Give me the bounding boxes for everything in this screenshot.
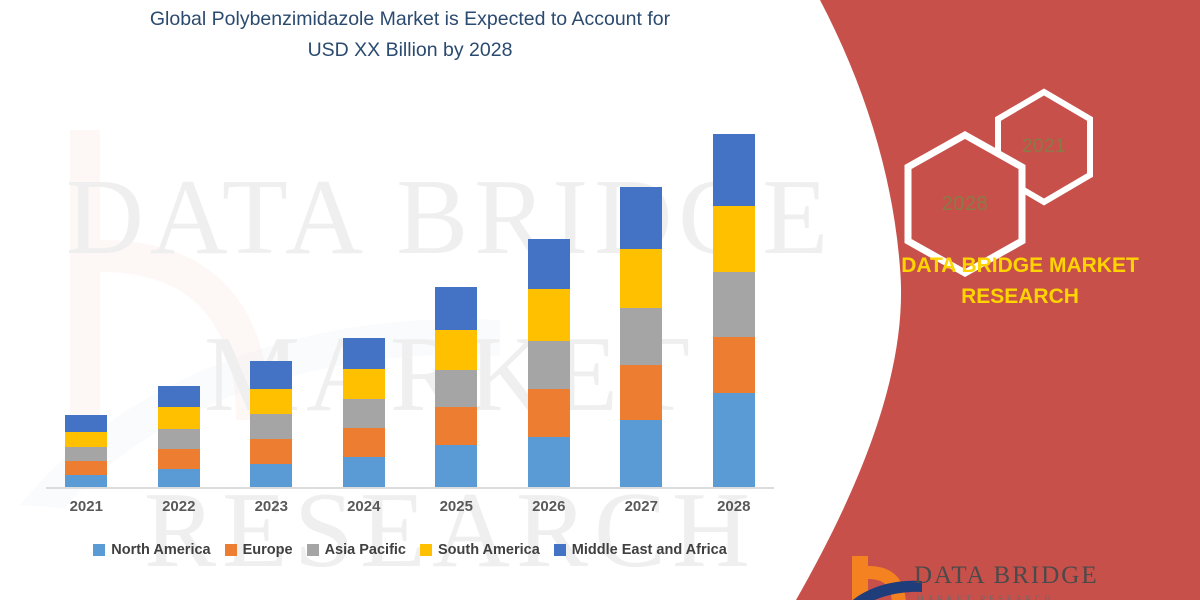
bar-segment [435,445,477,487]
x-axis-line [46,487,774,489]
bar-2027 [620,187,662,487]
bar-segment [250,389,292,414]
x-axis-tick-2024: 2024 [343,498,385,520]
bar-segment [343,428,385,457]
corner-logo-name: DATA BRIDGE [914,562,1099,590]
x-axis-tick-2028: 2028 [713,498,755,520]
x-axis-tick-2022: 2022 [158,498,200,520]
panel-subtitle: By Regions, 2021 to 2028 [840,0,1200,1]
legend-label: South America [438,542,540,558]
bar-segment [528,389,570,437]
x-axis-tick-2025: 2025 [435,498,477,520]
bar-segment [343,399,385,428]
bar-segment [158,429,200,449]
legend-label: Asia Pacific [325,542,406,558]
chart-legend: North AmericaEuropeAsia PacificSouth Ame… [40,538,780,562]
bar-segment [158,386,200,407]
bar-segment [435,287,477,330]
bar-segment [65,461,107,475]
x-axis-tick-2026: 2026 [528,498,570,520]
bar-segment [713,272,755,337]
bar-2023 [250,361,292,487]
bar-segment [620,308,662,365]
bar-segment [435,370,477,407]
bar-segment [158,449,200,469]
bar-segment [158,407,200,429]
bar-segment [65,415,107,432]
bar-segment [435,330,477,370]
x-axis-tick-2023: 2023 [250,498,292,520]
hexagon-label-2028: 2028 [942,193,989,216]
bar-segment [620,187,662,249]
legend-item[interactable]: Middle East and Africa [554,542,727,558]
brand-name: DATA BRIDGE MARKET RESEARCH [840,250,1200,312]
legend-item[interactable]: North America [93,542,210,558]
infographic-canvas: DATA BRIDGE MARKET RESEARCH Global Polyb… [0,0,1200,600]
bar-segment [528,239,570,289]
legend-item[interactable]: Europe [225,542,293,558]
bar-segment [343,338,385,369]
bar-segment [528,341,570,389]
bar-segment [435,407,477,445]
x-axis-tick-2027: 2027 [620,498,662,520]
legend-swatch-icon [420,544,432,556]
bar-segment [528,437,570,487]
bar-2022 [158,386,200,487]
hexagon-badges: 2021 2028 [900,88,1130,238]
x-axis-tick-2021: 2021 [65,498,107,520]
bar-segment [250,414,292,439]
bar-segment [65,432,107,447]
bar-segment [343,369,385,399]
bar-segment [713,206,755,272]
corner-logo-tagline: MARKET RESEARCH [916,594,1054,600]
corner-logo: DATA BRIDGE MARKET RESEARCH [838,548,1138,600]
bar-segment [620,365,662,420]
bar-segment [250,439,292,464]
bar-segment [713,393,755,487]
bar-2021 [65,415,107,487]
bar-segment [158,469,200,487]
chart-plot-area [40,100,780,490]
bar-segment [713,134,755,206]
legend-label: Europe [243,542,293,558]
bar-segment [343,457,385,487]
legend-item[interactable]: South America [420,542,540,558]
legend-item[interactable]: Asia Pacific [307,542,406,558]
legend-label: Middle East and Africa [572,542,727,558]
bar-segment [250,464,292,487]
bar-segment [620,249,662,308]
bar-segment [65,475,107,487]
legend-swatch-icon [225,544,237,556]
bar-2025 [435,287,477,487]
x-axis-labels: 20212022202320242025202620272028 [40,498,780,520]
bar-segment [620,420,662,487]
bar-segment [65,447,107,461]
chart-title: Global Polybenzimidazole Market is Expec… [60,4,760,66]
bar-segment [250,361,292,389]
panel-content: By Regions, 2021 to 2028 2021 2028 DATA … [840,0,1200,600]
bar-2028 [713,134,755,487]
bar-segment [713,337,755,393]
bar-2026 [528,239,570,487]
legend-label: North America [111,542,210,558]
legend-swatch-icon [307,544,319,556]
legend-swatch-icon [93,544,105,556]
legend-swatch-icon [554,544,566,556]
bar-segment [528,289,570,341]
bar-2024 [343,338,385,487]
bar-group [40,100,780,487]
